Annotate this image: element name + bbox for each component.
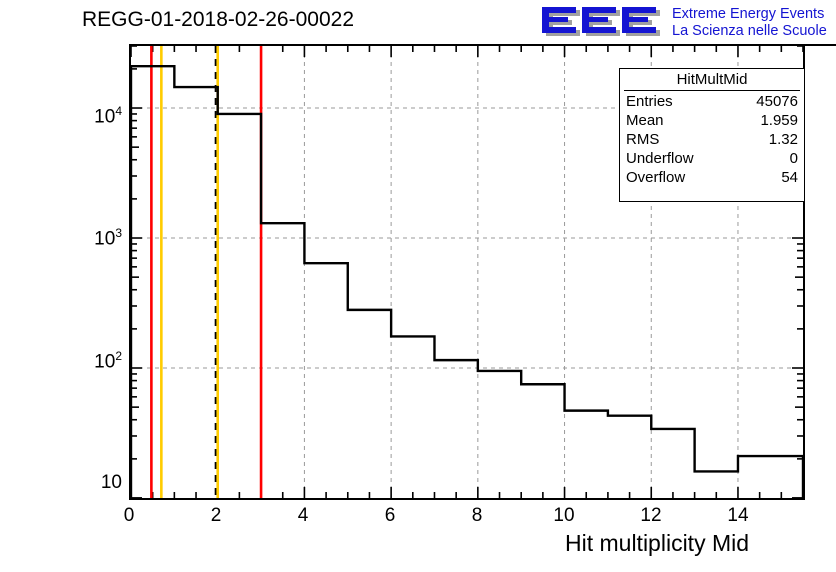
stats-value: 1.959: [760, 111, 798, 130]
x-tick-label-10: 10: [544, 505, 584, 527]
stats-row-overflow: Overflow54: [620, 168, 804, 187]
x-tick-label-4: 4: [283, 505, 323, 527]
eee-logo-line1: Extreme Energy Events: [672, 6, 827, 23]
x-tick-label-8: 8: [457, 505, 497, 527]
stats-row-entries: Entries45076: [620, 92, 804, 111]
x-tick-label-14: 14: [718, 505, 758, 527]
eee-logo-mark: [538, 5, 666, 39]
stats-label: Overflow: [626, 168, 685, 187]
y-tick-label-10000: 104: [50, 104, 122, 128]
x-tick-label-6: 6: [370, 505, 410, 527]
statistics-box: HitMultMid Entries45076Mean1.959RMS1.32U…: [619, 68, 805, 202]
eee-logo: Extreme Energy Events La Scienza nelle S…: [538, 3, 836, 43]
stats-divider: [624, 90, 800, 91]
stats-label: Mean: [626, 111, 664, 130]
stats-value: 54: [781, 168, 798, 187]
stats-label: Underflow: [626, 149, 694, 168]
stats-value: 45076: [756, 92, 798, 111]
stats-title: HitMultMid: [620, 69, 804, 88]
stats-label: RMS: [626, 130, 659, 149]
stats-row-rms: RMS1.32: [620, 130, 804, 149]
eee-logo-line2: La Scienza nelle Scuole: [672, 23, 827, 40]
stats-row-mean: Mean1.959: [620, 111, 804, 130]
y-tick-label-10: 10: [60, 472, 122, 494]
page-title: REGG-01-2018-02-26-00022: [82, 8, 354, 32]
stats-label: Entries: [626, 92, 673, 111]
stats-row-underflow: Underflow0: [620, 149, 804, 168]
stats-value: 1.32: [769, 130, 798, 149]
x-tick-label-12: 12: [631, 505, 671, 527]
stats-value: 0: [790, 149, 798, 168]
x-axis-title: Hit multiplicity Mid: [565, 530, 749, 557]
x-tick-label-2: 2: [196, 505, 236, 527]
y-tick-label-100: 102: [50, 349, 122, 373]
x-tick-label-0: 0: [109, 505, 149, 527]
eee-logo-text: Extreme Energy Events La Scienza nelle S…: [672, 6, 827, 40]
stats-rows: Entries45076Mean1.959RMS1.32Underflow0Ov…: [620, 92, 804, 187]
chart-page: REGG-01-2018-02-26-00022 Extreme Energy …: [0, 0, 836, 572]
y-tick-label-1000: 103: [50, 226, 122, 250]
